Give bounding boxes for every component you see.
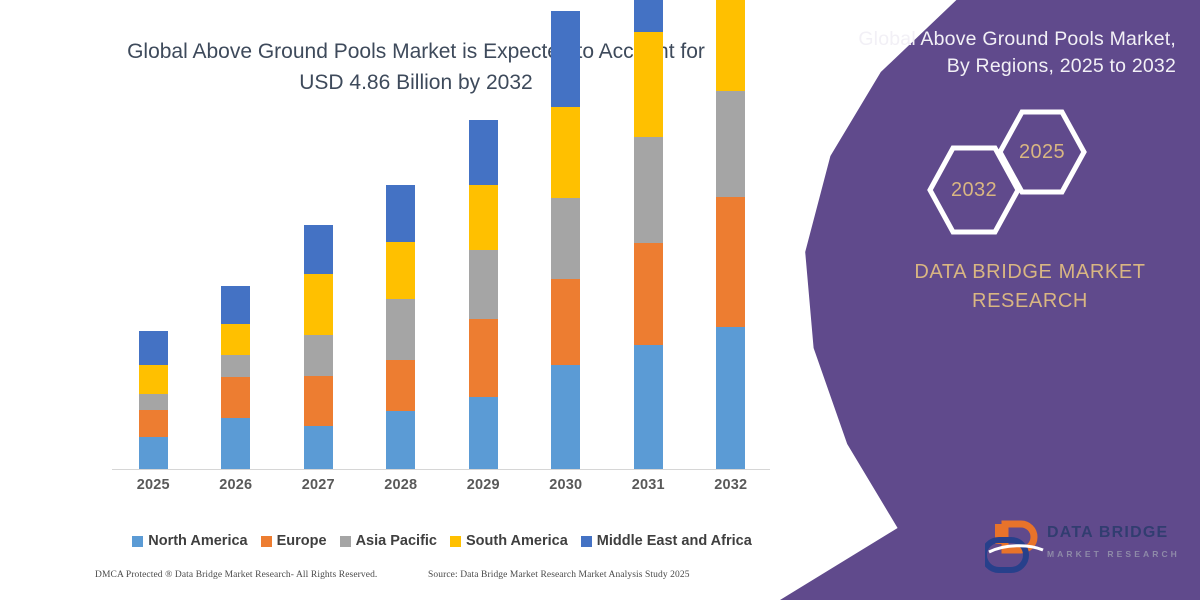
bar-segment-asia-pacific: [221, 355, 250, 377]
bar-segment-asia-pacific: [304, 335, 333, 376]
x-axis-label-2026: 2026: [206, 477, 266, 493]
x-axis-labels: 20252026202720282029203020312032: [112, 477, 772, 499]
company-logo: DATA BRIDGE MARKET RESEARCH: [985, 518, 1185, 576]
logo-wordmark-line-2: MARKET RESEARCH: [1047, 549, 1180, 559]
bar-segment-asia-pacific: [386, 299, 415, 360]
legend-item-asia-pacific[interactable]: Asia Pacific: [340, 533, 437, 549]
bar-segment-north-america: [304, 426, 333, 469]
legend-swatch-icon: [261, 536, 272, 547]
legend-swatch-icon: [132, 536, 143, 547]
bar-segment-south-america: [386, 242, 415, 299]
legend-item-south-america[interactable]: South America: [450, 533, 568, 549]
x-axis-label-2025: 2025: [123, 477, 183, 493]
bar-segment-asia-pacific: [139, 394, 168, 410]
legend-swatch-icon: [340, 536, 351, 547]
bar-segment-south-america: [716, 0, 745, 91]
bar-segment-south-america: [304, 274, 333, 335]
bar-segment-asia-pacific: [634, 137, 663, 243]
bar-segment-asia-pacific: [469, 250, 498, 319]
footer-copyright: DMCA Protected ® Data Bridge Market Rese…: [95, 570, 377, 580]
bar-segment-north-america: [716, 327, 745, 469]
x-axis-line: [112, 469, 770, 470]
bar-2028: [386, 185, 415, 469]
bar-segment-europe: [716, 197, 745, 327]
bar-segment-europe: [304, 376, 333, 427]
x-axis-label-2027: 2027: [288, 477, 348, 493]
legend-item-europe[interactable]: Europe: [261, 533, 327, 549]
bar-2025: [139, 331, 168, 469]
x-axis-label-2032: 2032: [701, 477, 761, 493]
x-axis-label-2029: 2029: [453, 477, 513, 493]
brand-name-line-2: RESEARCH: [880, 287, 1180, 316]
bar-segment-north-america: [386, 411, 415, 469]
bar-segment-south-america: [139, 365, 168, 393]
footer-source: Source: Data Bridge Market Research Mark…: [428, 570, 690, 580]
panel-heading: Global Above Ground Pools Market, By Reg…: [826, 26, 1176, 80]
bar-segment-europe: [634, 243, 663, 345]
bar-2032: [716, 0, 745, 469]
bar-segment-europe: [221, 377, 250, 418]
hexagon-badge-start-year: 2025: [996, 108, 1088, 196]
panel-heading-line-2: By Regions, 2025 to 2032: [826, 53, 1176, 80]
panel-heading-line-1: Global Above Ground Pools Market,: [826, 26, 1176, 53]
bar-segment-asia-pacific: [551, 198, 580, 279]
bar-segment-south-america: [221, 324, 250, 354]
bar-2031: [634, 0, 663, 469]
bar-segment-europe: [386, 360, 415, 411]
legend-label: Middle East and Africa: [597, 533, 752, 549]
logo-wordmark: DATA BRIDGE MARKET RESEARCH: [1047, 524, 1180, 559]
bar-segment-europe: [551, 279, 580, 364]
logo-mark-icon: [985, 518, 1045, 574]
bar-2027: [304, 225, 333, 469]
bar-2030: [551, 11, 580, 469]
hexagon-badge-end-year-label: 2032: [951, 179, 997, 202]
x-axis-label-2028: 2028: [371, 477, 431, 493]
bar-segment-north-america: [139, 437, 168, 469]
x-axis-label-2030: 2030: [536, 477, 596, 493]
bar-segment-south-america: [634, 32, 663, 138]
bar-segment-europe: [139, 410, 168, 436]
legend-label: South America: [466, 533, 568, 549]
x-axis-label-2031: 2031: [618, 477, 678, 493]
bar-segment-middle-east-and-africa: [551, 11, 580, 106]
bar-segment-middle-east-and-africa: [221, 286, 250, 325]
bar-segment-middle-east-and-africa: [634, 0, 663, 32]
bar-segment-north-america: [551, 365, 580, 469]
bar-segment-south-america: [469, 185, 498, 250]
bar-2026: [221, 286, 250, 469]
legend-swatch-icon: [450, 536, 461, 547]
legend-label: North America: [148, 533, 247, 549]
bar-segment-middle-east-and-africa: [469, 120, 498, 185]
bar-segment-south-america: [551, 107, 580, 198]
bar-segment-north-america: [469, 397, 498, 469]
bar-segment-north-america: [634, 345, 663, 469]
bar-chart: [112, 140, 772, 470]
legend-swatch-icon: [581, 536, 592, 547]
infographic-canvas: Global Above Ground Pools Market is Expe…: [0, 0, 1200, 600]
chart-legend: North AmericaEuropeAsia PacificSouth Ame…: [112, 530, 772, 552]
bar-segment-middle-east-and-africa: [386, 185, 415, 242]
hexagon-badges: 2032 2025: [920, 108, 1120, 238]
legend-label: Asia Pacific: [356, 533, 437, 549]
bar-segment-asia-pacific: [716, 91, 745, 197]
bar-2029: [469, 120, 498, 469]
legend-label: Europe: [277, 533, 327, 549]
bar-segment-middle-east-and-africa: [139, 331, 168, 366]
bar-segment-north-america: [221, 418, 250, 469]
brand-name-line-1: DATA BRIDGE MARKET: [880, 258, 1180, 287]
bar-segment-middle-east-and-africa: [304, 225, 333, 274]
bar-segment-europe: [469, 319, 498, 396]
hexagon-badge-start-year-label: 2025: [1019, 141, 1065, 164]
logo-wordmark-line-1: DATA BRIDGE: [1047, 524, 1180, 542]
legend-item-middle-east-and-africa[interactable]: Middle East and Africa: [581, 533, 752, 549]
legend-item-north-america[interactable]: North America: [132, 533, 247, 549]
brand-name: DATA BRIDGE MARKET RESEARCH: [880, 258, 1180, 316]
